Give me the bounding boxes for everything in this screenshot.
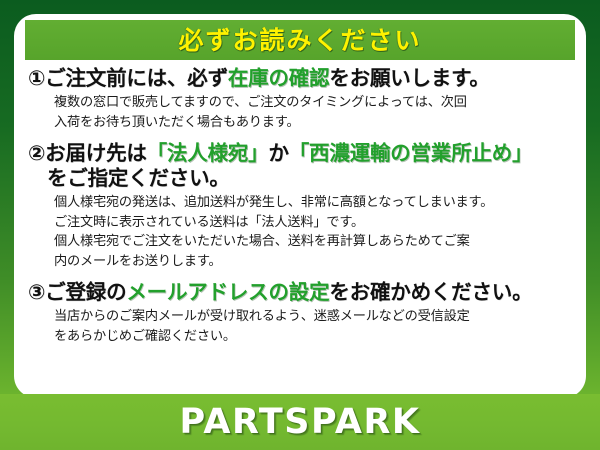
notice-item-3-heading-after: をお確かめください。	[329, 280, 532, 304]
notice-item-3: ③ご登録のメールアドレスの設定をお確かめください。 当店からのご案内メールが受け…	[28, 280, 572, 346]
notice-item-2-heading-highlight: 「法人様宛」	[147, 141, 269, 165]
notice-item-3-desc-line-2: をあらかじめご確認ください。	[28, 327, 572, 347]
notice-item-3-heading-highlight: メールアドレスの設定	[126, 280, 329, 304]
notice-item-3-heading: ③ご登録のメールアドレスの設定をお確かめください。	[28, 280, 572, 305]
notice-card: 必ずお読みください ①ご注文前には、必ず在庫の確認をお願いします。 複数の窓口で…	[0, 0, 600, 450]
notice-item-2-heading: ②お届け先は「法人様宛」か「西濃運輸の営業所止め」	[28, 141, 572, 166]
notice-item-1-heading-after: をお願いします。	[329, 66, 489, 90]
footer-brand-band: PARTSPARK	[0, 394, 600, 450]
notice-item-3-marker: ③	[28, 280, 45, 304]
header-band: 必ずお読みください	[25, 20, 575, 60]
notice-item-2: ②お届け先は「法人様宛」か「西濃運輸の営業所止め」 をご指定ください。 個人様宅…	[28, 141, 572, 271]
notice-item-2-heading-before: お届け先は	[45, 141, 147, 165]
notice-item-2-heading-middle: か	[268, 141, 288, 165]
notice-item-2-desc-line-1: 個人様宅宛の発送は、追加送料が発生し、非常に高額となってしまいます。	[28, 193, 572, 213]
notice-item-2-desc-line-3: 個人様宅宛でご注文をいただいた場合、送料を再計算しあらためてご案	[28, 232, 572, 252]
notice-item-1-heading: ①ご注文前には、必ず在庫の確認をお願いします。	[28, 66, 572, 91]
notice-item-2-desc-line-4: 内のメールをお送りします。	[28, 252, 572, 272]
notice-item-1: ①ご注文前には、必ず在庫の確認をお願いします。 複数の窓口で販売してますので、ご…	[28, 66, 572, 132]
brand-wordmark: PARTSPARK	[179, 405, 420, 440]
notice-item-2-heading-highlight-2: 「西濃運輸の営業所止め」	[289, 141, 533, 165]
notice-item-1-desc-line-1: 複数の窓口で販売してますので、ご注文のタイミングによっては、次回	[28, 93, 572, 113]
notice-item-3-heading-before: ご登録の	[45, 280, 126, 304]
notice-item-3-desc-line-1: 当店からのご案内メールが受け取れるよう、迷惑メールなどの受信設定	[28, 307, 572, 327]
notice-item-1-heading-highlight: 在庫の確認	[228, 66, 330, 90]
notice-item-2-heading-line-2: をご指定ください。	[28, 166, 572, 191]
page-title: 必ずお読みください	[178, 28, 421, 53]
notice-item-1-desc-line-2: 入荷をお待ち頂いただく場合もあります。	[28, 113, 572, 133]
notice-item-2-marker: ②	[28, 141, 45, 165]
notice-item-1-heading-before: ご注文前には、必ず	[45, 66, 228, 90]
notice-body: ①ご注文前には、必ず在庫の確認をお願いします。 複数の窓口で販売してますので、ご…	[14, 66, 586, 396]
notice-item-2-desc-line-2: ご注文時に表示されている送料は「法人送料」です。	[28, 213, 572, 233]
notice-item-1-marker: ①	[28, 66, 45, 90]
